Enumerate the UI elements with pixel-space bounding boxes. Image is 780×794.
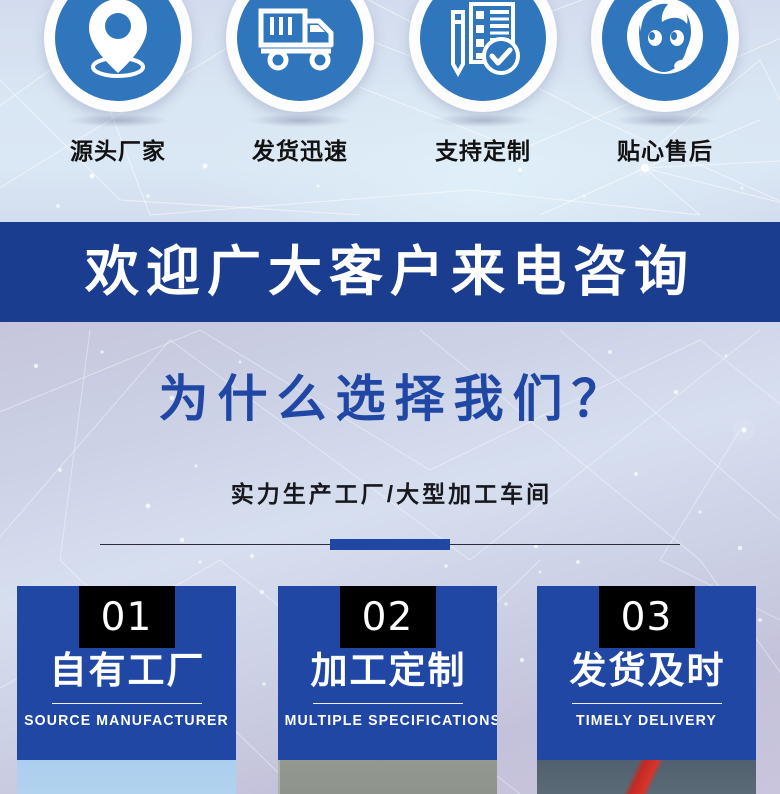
icon-circle — [591, 0, 739, 112]
headset-support-icon — [619, 0, 711, 82]
feature-item-source-manufacturer[interactable]: 源头厂家 — [44, 0, 192, 112]
checklist-pencil-icon — [445, 0, 521, 78]
feature-card-02[interactable]: 02 加工定制 MULTIPLE SPECIFICATIONS — [278, 586, 497, 794]
card-panel: 01 自有工厂 SOURCE MANUFACTURER — [17, 586, 236, 760]
feature-item-customization[interactable]: 支持定制 — [409, 0, 557, 112]
section-subtitle: 实力生产工厂/大型加工车间 — [0, 475, 780, 509]
icon-drop-shadow — [613, 114, 717, 127]
card-number: 01 — [101, 598, 153, 637]
feature-label: 发货迅速 — [226, 132, 374, 166]
icon-drop-shadow — [431, 114, 535, 127]
card-rule — [313, 703, 463, 704]
card-title-cn: 自有工厂 — [17, 650, 236, 693]
card-title-en: SOURCE MANUFACTURER — [24, 712, 230, 729]
card-number: 02 — [362, 598, 414, 637]
icon-circle — [409, 0, 557, 112]
feature-label: 源头厂家 — [44, 132, 192, 166]
card-number-badge: 03 — [599, 586, 695, 648]
card-title-cn: 加工定制 — [278, 650, 497, 693]
card-title-cn: 发货及时 — [537, 650, 756, 693]
feature-label: 贴心售后 — [591, 132, 739, 166]
location-pin-icon — [81, 0, 155, 79]
card-title-en: MULTIPLE SPECIFICATIONS — [285, 712, 491, 729]
feature-card-row: 01 自有工厂 SOURCE MANUFACTURER 02 加工定制 MULT… — [0, 586, 780, 794]
delivery-truck-icon — [258, 3, 342, 73]
icon-drop-shadow — [248, 114, 352, 127]
icon-drop-shadow — [66, 114, 170, 127]
feature-label: 支持定制 — [409, 132, 557, 166]
product-detail-page: 源头厂家 — [0, 0, 780, 794]
feature-item-after-sales[interactable]: 贴心售后 — [591, 0, 739, 112]
welcome-banner-text: 欢迎广大客户来电咨询 — [85, 245, 695, 299]
icon-circle — [44, 0, 192, 112]
feature-item-fast-shipping[interactable]: 发货迅速 — [226, 0, 374, 112]
feature-card-01[interactable]: 01 自有工厂 SOURCE MANUFACTURER — [17, 586, 236, 794]
card-rule — [52, 703, 202, 704]
card-title-en: TIMELY DELIVERY — [544, 712, 750, 729]
feature-icon-row: 源头厂家 — [0, 0, 780, 149]
card-number: 03 — [621, 598, 673, 637]
card-panel: 03 发货及时 TIMELY DELIVERY — [537, 586, 756, 760]
card-number-badge: 02 — [340, 586, 436, 648]
card-panel: 02 加工定制 MULTIPLE SPECIFICATIONS — [278, 586, 497, 760]
section-divider-accent — [330, 539, 450, 550]
icon-circle — [226, 0, 374, 112]
welcome-banner: 欢迎广大客户来电咨询 — [0, 222, 780, 322]
section-title-why-choose-us: 为什么选择我们？ — [0, 372, 780, 427]
feature-card-03[interactable]: 03 发货及时 TIMELY DELIVERY — [537, 586, 756, 794]
card-number-badge: 01 — [79, 586, 175, 648]
card-rule — [572, 703, 722, 704]
